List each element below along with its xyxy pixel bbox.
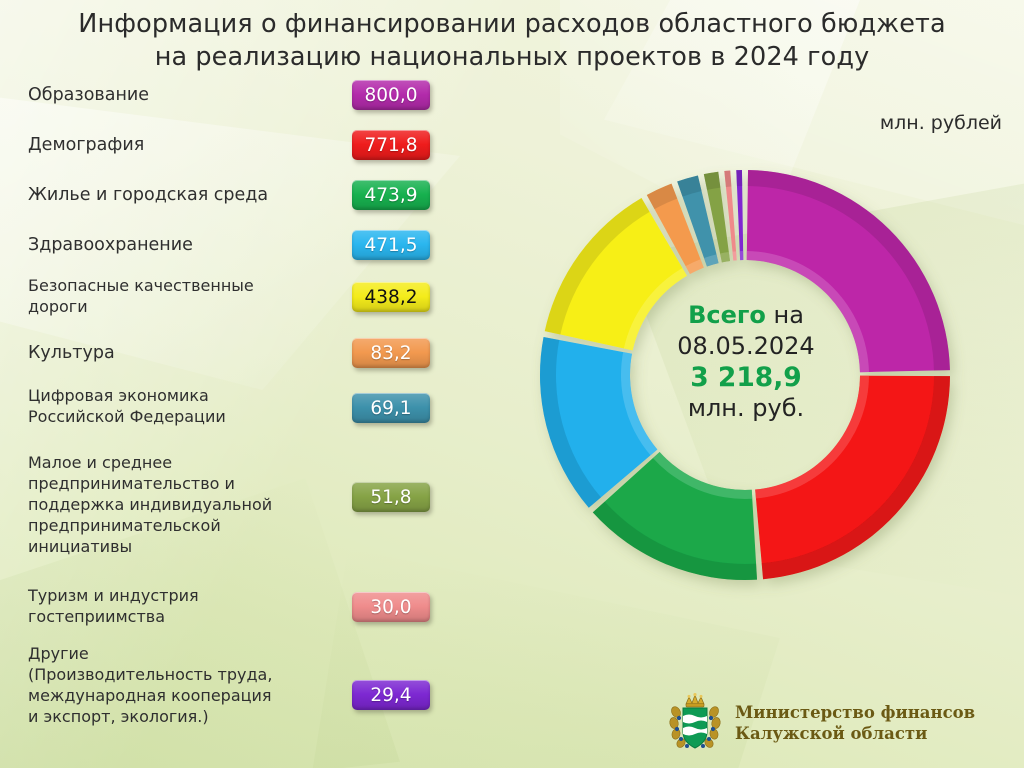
legend-item-value-badge[interactable]: 771,8	[352, 130, 430, 160]
legend-item-label: Малое и среднее предпринимательство и по…	[28, 452, 328, 557]
page-title: Информация о финансировании расходов обл…	[0, 8, 1024, 74]
legend-item-label: Демография	[28, 134, 328, 157]
legend-item-label: Здравоохранение	[28, 234, 328, 257]
center-total-caption: Всего на	[640, 300, 852, 331]
donut-slice-highlight	[720, 252, 730, 262]
legend-item[interactable]: Малое и среднее предпринимательство и по…	[28, 452, 328, 557]
legend-item-value-badge[interactable]: 800,0	[352, 80, 430, 110]
donut-center-text: Всего на 08.05.2024 3 218,9 млн. руб.	[640, 300, 852, 424]
donut-slice-bevel	[736, 170, 742, 186]
legend-item-label: Цифровая экономика Российской Федерации	[28, 385, 328, 427]
legend-item-value-badge[interactable]: 83,2	[352, 338, 430, 368]
legend-item-value-badge[interactable]: 438,2	[352, 282, 430, 312]
donut-slice-highlight	[732, 251, 736, 260]
page-title-line-2: на реализацию национальных проектов в 20…	[0, 41, 1024, 74]
legend-item[interactable]: Безопасные качественные дороги	[28, 275, 328, 317]
center-total-rest: на	[766, 301, 804, 329]
legend-item-label: Туризм и индустрия гостеприимства	[28, 585, 328, 627]
legend-item-value-badge[interactable]: 29,4	[352, 680, 430, 710]
legend-item[interactable]: Туризм и индустрия гостеприимства	[28, 585, 328, 627]
legend-item[interactable]: Жилье и городская среда	[28, 184, 328, 207]
legend-item-label: Образование	[28, 84, 328, 107]
legend-item[interactable]: Культура	[28, 342, 328, 365]
legend-item[interactable]: Другие (Производительность труда, междун…	[28, 643, 328, 727]
footer-branding: Министерство финансов Калужской области	[668, 692, 975, 754]
legend-item[interactable]: Цифровая экономика Российской Федерации	[28, 385, 328, 427]
donut-slice-bevel	[704, 172, 721, 190]
donut-slice-bevel	[724, 171, 731, 187]
legend-item[interactable]: Здравоохранение	[28, 234, 328, 257]
legend-item[interactable]: Демография	[28, 134, 328, 157]
page-title-line-1: Информация о финансировании расходов обл…	[78, 9, 945, 39]
legend-item-value-badge[interactable]: 473,9	[352, 180, 430, 210]
center-total-accent: Всего	[688, 301, 766, 329]
legend-item-value-badge[interactable]: 30,0	[352, 592, 430, 622]
footer-line-2: Калужской области	[735, 723, 975, 744]
center-units: млн. руб.	[640, 393, 852, 424]
kaluga-oblast-coat-of-arms-icon	[668, 692, 722, 754]
legend-item-label: Другие (Производительность труда, междун…	[28, 643, 328, 727]
legend-item-label: Культура	[28, 342, 328, 365]
legend-item-value-badge[interactable]: 51,8	[352, 482, 430, 512]
legend-item-label: Безопасные качественные дороги	[28, 275, 328, 317]
legend-item-label: Жилье и городская среда	[28, 184, 328, 207]
legend-item-value-badge[interactable]: 69,1	[352, 393, 430, 423]
infographic-page: Информация о финансировании расходов обл…	[0, 0, 1024, 768]
footer-line-1: Министерство финансов	[735, 702, 975, 723]
footer-ministry-name: Министерство финансов Калужской области	[735, 702, 975, 744]
legend-item[interactable]: Образование	[28, 84, 328, 107]
donut-slice-highlight	[740, 251, 744, 260]
legend-item-value-badge[interactable]: 471,5	[352, 230, 430, 260]
center-date: 08.05.2024	[640, 331, 852, 362]
center-total-value: 3 218,9	[640, 362, 852, 393]
